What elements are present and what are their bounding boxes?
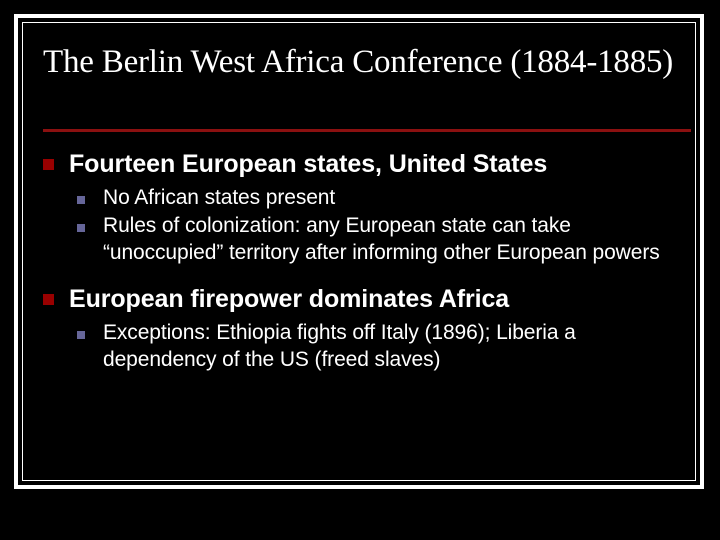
bullet-level2-text: Rules of colonization: any European stat… bbox=[103, 213, 689, 267]
bullet-level1-text: Fourteen European states, United States bbox=[69, 148, 547, 181]
bullet-level2: No African states present bbox=[43, 185, 693, 212]
sub-bullet-group: No African states present Rules of colon… bbox=[43, 185, 693, 268]
bullet-square-icon bbox=[43, 283, 69, 305]
sub-bullet-group: Exceptions: Ethiopia fights off Italy (1… bbox=[43, 320, 693, 374]
slide-title: The Berlin West Africa Conference (1884-… bbox=[43, 44, 683, 81]
bullet-level2-text: Exceptions: Ethiopia fights off Italy (1… bbox=[103, 320, 689, 374]
slide-title-block: The Berlin West Africa Conference (1884-… bbox=[43, 44, 683, 81]
bullet-level2: Rules of colonization: any European stat… bbox=[43, 213, 693, 267]
bullet-square-icon bbox=[43, 148, 69, 170]
bullet-level1: Fourteen European states, United States bbox=[43, 148, 693, 181]
presentation-slide: The Berlin West Africa Conference (1884-… bbox=[0, 0, 720, 540]
title-divider-rule bbox=[43, 129, 691, 132]
slide-body: Fourteen European states, United States … bbox=[43, 148, 693, 375]
bullet-level2-text: No African states present bbox=[103, 185, 335, 212]
bullet-level2: Exceptions: Ethiopia fights off Italy (1… bbox=[43, 320, 693, 374]
section-spacer bbox=[43, 269, 693, 283]
sub-bullet-square-icon bbox=[77, 185, 103, 204]
bullet-level1: European firepower dominates Africa bbox=[43, 283, 693, 316]
sub-bullet-square-icon bbox=[77, 320, 103, 339]
sub-bullet-square-icon bbox=[77, 213, 103, 232]
bullet-level1-text: European firepower dominates Africa bbox=[69, 283, 509, 316]
